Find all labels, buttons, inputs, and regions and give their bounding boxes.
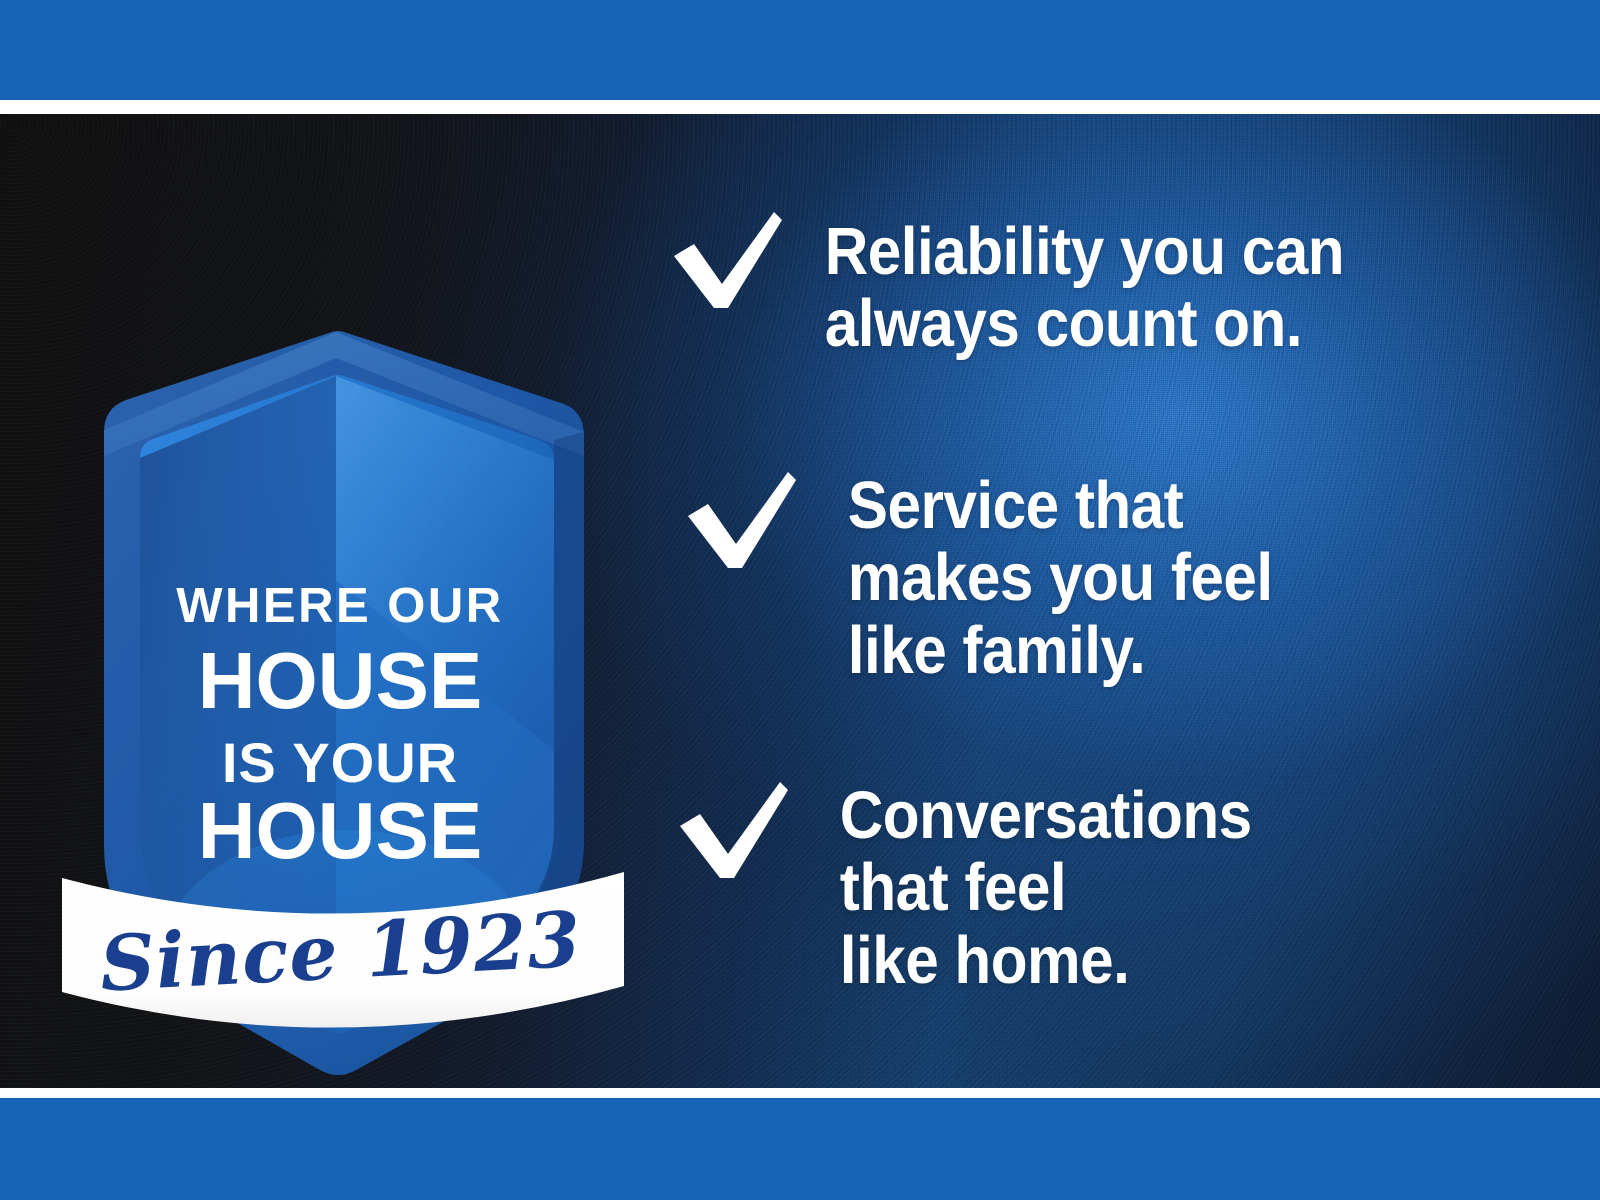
marketing-poster: WHERE OUR HOUSE IS YOUR HOUSE Since 1923	[0, 0, 1600, 1200]
badge-line-4: HOUSE	[198, 786, 483, 875]
badge-line-2: HOUSE	[198, 636, 483, 725]
benefit-text-reliability: Reliability you can always count on.	[814, 216, 1344, 361]
checkmark-icon	[676, 780, 792, 884]
benefit-item-service: Service that makes you feel like family.	[684, 470, 1322, 687]
badge-line-1: WHERE OUR	[176, 579, 503, 633]
badge-line-3: IS YOUR	[222, 731, 458, 794]
checkmark-icon	[684, 470, 800, 574]
bottom-brand-bar	[0, 1098, 1600, 1200]
benefit-text-conversations: Conversations that feel like home.	[820, 780, 1252, 997]
benefit-item-conversations: Conversations that feel like home.	[676, 780, 1300, 997]
shield-badge: WHERE OUR HOUSE IS YOUR HOUSE Since 1923	[78, 280, 598, 1060]
top-brand-bar	[0, 0, 1600, 100]
main-panel: WHERE OUR HOUSE IS YOUR HOUSE Since 1923	[0, 114, 1600, 1088]
benefit-text-service: Service that makes you feel like family.	[828, 470, 1273, 687]
benefits-list: Reliability you can always count on. Ser…	[670, 114, 1570, 1088]
benefit-item-reliability: Reliability you can always count on.	[670, 210, 1403, 361]
checkmark-icon	[670, 210, 786, 314]
